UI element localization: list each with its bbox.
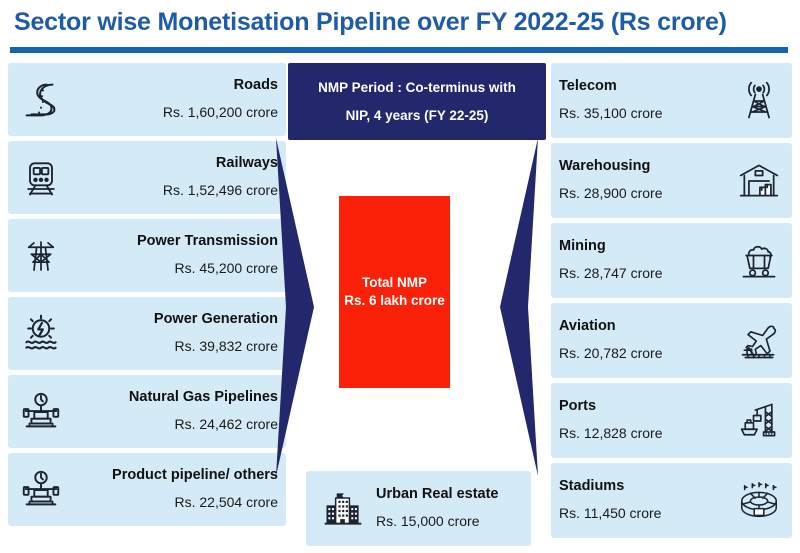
pipeline-valve-icon bbox=[12, 383, 70, 441]
sector-text-block: Mining Rs. 28,747 crore bbox=[559, 239, 730, 281]
sector-amount: Rs. 20,782 crore bbox=[559, 346, 663, 361]
sector-text-block: Natural Gas Pipelines Rs. 24,462 crore bbox=[70, 390, 278, 432]
mining-cart-icon bbox=[730, 232, 788, 290]
total-nmp-box: Total NMP Rs. 6 lakh crore bbox=[339, 196, 450, 388]
sector-text-block: Aviation Rs. 20,782 crore bbox=[559, 319, 730, 361]
sector-text-block: Product pipeline/ others Rs. 22,504 cror… bbox=[70, 468, 278, 510]
sector-amount: Rs. 1,60,200 crore bbox=[163, 105, 278, 120]
sector-name: Urban Real estate bbox=[376, 487, 499, 503]
sector-card-natural-gas-pipelines[interactable]: Natural Gas Pipelines Rs. 24,462 crore bbox=[8, 375, 286, 448]
sector-card-power-transmission[interactable]: Power Transmission Rs. 45,200 crore bbox=[8, 219, 286, 292]
sector-card-power-generation[interactable]: Power Generation Rs. 39,832 crore bbox=[8, 297, 286, 370]
sector-name: Roads bbox=[234, 78, 278, 94]
sector-amount: Rs. 35,100 crore bbox=[559, 106, 663, 121]
sector-card-mining[interactable]: Mining Rs. 28,747 crore bbox=[551, 223, 792, 298]
sector-amount: Rs. 1,52,496 crore bbox=[163, 183, 278, 198]
sector-amount: Rs. 45,200 crore bbox=[175, 261, 279, 276]
total-nmp-label: Total NMP bbox=[362, 274, 427, 292]
sector-card-telecom[interactable]: Telecom Rs. 35,100 crore bbox=[551, 63, 792, 138]
sector-amount: Rs. 24,462 crore bbox=[175, 417, 279, 432]
sector-card-warehousing[interactable]: Warehousing Rs. 28,900 crore bbox=[551, 143, 792, 218]
sector-card-urban-real-estate[interactable]: Urban Real estate Rs. 15,000 crore bbox=[306, 471, 531, 546]
left-sector-column: Roads Rs. 1,60,200 crore Railways bbox=[8, 63, 286, 531]
winding-road-icon bbox=[12, 71, 70, 129]
sector-text-block: Warehousing Rs. 28,900 crore bbox=[559, 159, 730, 201]
sector-card-ports[interactable]: Ports Rs. 12,828 crore bbox=[551, 383, 792, 458]
sector-text-block: Power Generation Rs. 39,832 crore bbox=[70, 312, 278, 354]
sector-amount: Rs. 28,747 crore bbox=[559, 266, 663, 281]
sector-text-block: Urban Real estate Rs. 15,000 crore bbox=[376, 487, 523, 529]
hydro-power-icon bbox=[12, 305, 70, 363]
nmp-banner-line-2: NIP, 4 years (FY 22-25) bbox=[346, 109, 489, 123]
sector-name: Telecom bbox=[559, 79, 617, 95]
sector-text-block: Roads Rs. 1,60,200 crore bbox=[70, 78, 278, 120]
total-nmp-value: Rs. 6 lakh crore bbox=[344, 292, 445, 310]
port-crane-icon bbox=[730, 392, 788, 450]
sector-name: Warehousing bbox=[559, 159, 650, 175]
nmp-banner-line-1: NMP Period : Co-terminus with bbox=[318, 81, 516, 95]
right-sector-column: Telecom Rs. 35,100 crore Warehousing Rs.… bbox=[551, 63, 792, 543]
sector-name: Natural Gas Pipelines bbox=[129, 390, 278, 406]
sector-name: Mining bbox=[559, 239, 606, 255]
sector-name: Railways bbox=[216, 156, 278, 172]
sector-name: Stadiums bbox=[559, 479, 624, 495]
sector-amount: Rs. 22,504 crore bbox=[175, 495, 279, 510]
sector-card-stadiums[interactable]: Stadiums Rs. 11,450 crore bbox=[551, 463, 792, 538]
sector-text-block: Ports Rs. 12,828 crore bbox=[559, 399, 730, 441]
sector-amount: Rs. 39,832 crore bbox=[175, 339, 279, 354]
sector-name: Power Transmission bbox=[137, 234, 278, 250]
sector-amount: Rs. 12,828 crore bbox=[559, 426, 663, 441]
sector-card-aviation[interactable]: Aviation Rs. 20,782 crore bbox=[551, 303, 792, 378]
center-column: NMP Period : Co-terminus with NIP, 4 yea… bbox=[288, 63, 546, 543]
sector-name: Ports bbox=[559, 399, 596, 415]
sector-text-block: Railways Rs. 1,52,496 crore bbox=[70, 156, 278, 198]
electric-pylon-icon bbox=[12, 227, 70, 285]
sector-text-block: Telecom Rs. 35,100 crore bbox=[559, 79, 730, 121]
sector-amount: Rs. 15,000 crore bbox=[376, 514, 480, 529]
sector-name: Aviation bbox=[559, 319, 616, 335]
pipeline-valve-icon bbox=[12, 461, 70, 519]
warehouse-icon bbox=[730, 152, 788, 210]
stadium-icon bbox=[730, 472, 788, 530]
sector-name: Power Generation bbox=[154, 312, 278, 328]
train-icon bbox=[12, 149, 70, 207]
airplane-icon bbox=[730, 312, 788, 370]
sector-text-block: Stadiums Rs. 11,450 crore bbox=[559, 479, 730, 521]
infographic-canvas: Sector wise Monetisation Pipeline over F… bbox=[0, 0, 800, 553]
sector-amount: Rs. 28,900 crore bbox=[559, 186, 663, 201]
city-buildings-icon bbox=[314, 480, 372, 538]
telecom-tower-icon bbox=[730, 72, 788, 130]
page-title: Sector wise Monetisation Pipeline over F… bbox=[14, 8, 727, 37]
sector-card-roads[interactable]: Roads Rs. 1,60,200 crore bbox=[8, 63, 286, 136]
title-underline-rule bbox=[10, 47, 788, 53]
sector-name: Product pipeline/ others bbox=[112, 468, 278, 484]
sector-amount: Rs. 11,450 crore bbox=[559, 506, 661, 521]
sector-text-block: Power Transmission Rs. 45,200 crore bbox=[70, 234, 278, 276]
sector-card-product-pipeline-others[interactable]: Product pipeline/ others Rs. 22,504 cror… bbox=[8, 453, 286, 526]
sector-card-railways[interactable]: Railways Rs. 1,52,496 crore bbox=[8, 141, 286, 214]
nmp-period-banner: NMP Period : Co-terminus with NIP, 4 yea… bbox=[288, 63, 546, 140]
